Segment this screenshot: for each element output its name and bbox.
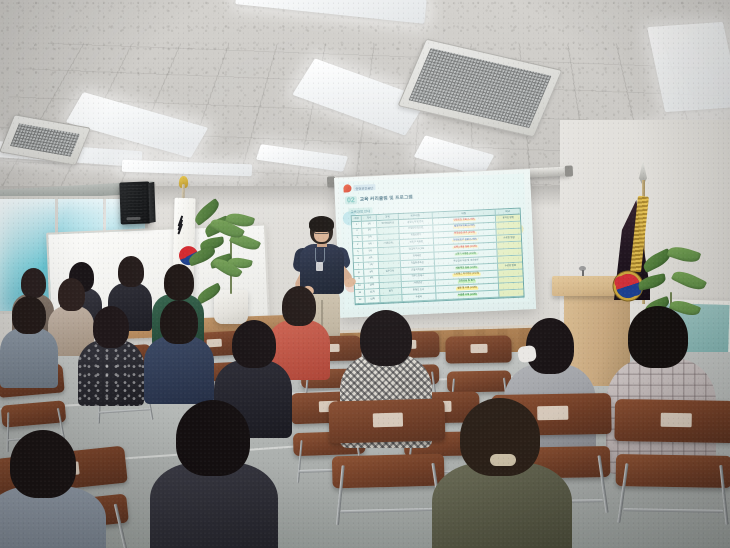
table-cell: 수료식 xyxy=(402,294,436,301)
presentation-slide: 안전보건공단 02 교육 커리큘럼 및 프로그램 교육과정 안내 구분차수과목세… xyxy=(339,173,530,309)
highlighted-text: 건강상담 및 평가 xyxy=(458,280,476,283)
highlighted-text: 수료증 수여 (1시간) xyxy=(457,294,478,297)
attendee-hair xyxy=(164,264,194,300)
table-cell: 9차 xyxy=(365,276,380,283)
table-cell: 7차 xyxy=(364,262,379,269)
slide-section-title: 교육 커리큘럼 및 프로그램 xyxy=(360,194,413,202)
highlighted-text: 안전보호구 실습 (1시간) xyxy=(452,239,477,243)
table-cell: 5차 xyxy=(363,248,378,255)
attendee-hair xyxy=(93,306,129,348)
table-cell xyxy=(379,261,401,268)
plant-leaf xyxy=(211,255,243,282)
highlighted-text: 안전보건 교육 (1시간) xyxy=(453,218,476,221)
table-cell xyxy=(497,228,521,235)
table-cell: 1차 xyxy=(362,221,377,228)
attendee-front-center xyxy=(150,400,278,548)
table-cell xyxy=(380,275,402,282)
table-cell: 평가 xyxy=(380,288,402,295)
table-cell xyxy=(498,256,522,263)
hair-clip xyxy=(490,454,516,466)
attendee-hair xyxy=(628,306,688,368)
table-cell: 수료증 발급 xyxy=(498,262,522,269)
slide-section-header: 02 교육 커리큘럼 및 프로그램 xyxy=(345,193,413,204)
speaker-brand-plate xyxy=(126,217,140,220)
chair-cross-rail xyxy=(623,508,724,513)
attendee-torso xyxy=(0,328,58,388)
table-cell xyxy=(380,282,402,289)
chair-seat xyxy=(1,400,66,427)
highlighted-text: 심폐소생술 실습 (2시간) xyxy=(453,245,478,249)
rail-end-cap xyxy=(565,165,573,176)
attendee-hair xyxy=(360,310,412,366)
chair-seat xyxy=(447,371,511,393)
table-cell xyxy=(499,276,523,283)
table-cell: 10차 xyxy=(365,283,380,290)
chair-cross-rail xyxy=(99,408,151,414)
chair-backrest xyxy=(614,399,730,443)
table-cell: 실무교육 xyxy=(379,268,401,275)
table-cell: 3차 xyxy=(363,235,378,242)
attendee-hair xyxy=(10,430,76,498)
presenter-hair xyxy=(309,216,334,232)
slide-logo-text: 안전보건공단 xyxy=(353,184,375,191)
attendee-front-left xyxy=(0,430,106,548)
attendee-navy-floral xyxy=(144,300,214,398)
highlighted-text: 스트레스 자가진단 (1시간) xyxy=(453,273,480,277)
chair-seat xyxy=(332,453,444,488)
table-cell: 이론교육 xyxy=(378,240,400,247)
folding-chair xyxy=(328,399,447,526)
table-cell: 6차 xyxy=(364,255,379,262)
table-cell xyxy=(499,269,523,276)
chair-backrest xyxy=(328,399,445,444)
projector-screen: 안전보건공단 02 교육 커리큘럼 및 프로그램 교육과정 안내 구분차수과목세… xyxy=(334,169,536,318)
logo-mark-icon xyxy=(343,184,351,192)
chair-seat xyxy=(616,454,730,488)
table-cell: 오리에테이션 xyxy=(377,220,399,227)
attendee-mid-left xyxy=(0,296,58,382)
chair-cross-rail xyxy=(341,508,438,514)
highlighted-text: 법정의무교육 (2시간) xyxy=(453,225,475,228)
table-cell: 온라인 병행 xyxy=(496,214,520,221)
slide-section-number: 02 xyxy=(345,196,357,205)
plant-leaf xyxy=(667,243,701,265)
table-cell: 11차 xyxy=(365,289,380,296)
attendee-hair xyxy=(160,300,198,344)
attendee-hair xyxy=(118,256,144,287)
slide-curriculum-table: 구분차수과목세부내용내용비고 11차오리에테이션과정소개 및 안내안전보건 교육… xyxy=(351,208,525,306)
table-cell: 2차 xyxy=(362,228,377,235)
attendee-hair xyxy=(21,268,46,298)
presenter-id-badge xyxy=(316,262,323,271)
attendee-hair xyxy=(232,320,276,368)
attendee-olive-vest-front xyxy=(432,398,572,548)
table-cell xyxy=(498,249,522,256)
seminar-room-photo: 안전보건공단 02 교육 커리큘럼 및 프로그램 교육과정 안내 구분차수과목세… xyxy=(0,0,730,548)
table-cell xyxy=(500,290,524,297)
table-cell xyxy=(378,234,400,241)
vent-grille xyxy=(10,123,80,157)
table-cell xyxy=(499,283,523,290)
table-cell xyxy=(378,247,400,254)
table-cell xyxy=(381,295,403,302)
chair-backrest xyxy=(445,335,511,363)
wall-mounted-pa-speaker xyxy=(119,181,150,224)
table-body: 11차오리에테이션과정소개 및 안내안전보건 교육 (1시간)온라인 병행22차… xyxy=(352,214,524,304)
attendee-torso xyxy=(78,340,144,406)
table-cell xyxy=(379,254,401,261)
plant-leaf xyxy=(671,267,707,294)
highlighted-text: 현장실습 위주 (2시간) xyxy=(453,232,476,235)
attendee-torso xyxy=(144,336,214,404)
highlighted-text: 예방체조 실습 (1시간) xyxy=(455,266,478,269)
table-cell xyxy=(498,242,522,249)
table-cell xyxy=(377,227,399,234)
plant-leaf xyxy=(209,215,245,242)
attendee-hair xyxy=(12,296,46,334)
plant-leaf xyxy=(637,273,667,291)
table-cell: 4차 xyxy=(363,241,378,248)
table-header-cell: 차수 xyxy=(362,215,377,220)
table-cell: 12차 xyxy=(366,296,381,303)
taeguk-red-lobe xyxy=(613,275,628,290)
attendee-floral-dark xyxy=(78,306,144,402)
folding-chair xyxy=(613,399,730,525)
highlighted-text: 소화기 사용법 (1시간) xyxy=(454,252,477,255)
highlighted-text: 설문 및 수료 (1시간) xyxy=(456,287,478,290)
table-cell: 수료증 발급 xyxy=(497,235,521,242)
slide-logo: 안전보건공단 xyxy=(343,183,375,192)
table-cell: 8차 xyxy=(364,269,379,276)
slide-subtitle: 교육과정 안내 xyxy=(348,207,372,214)
table-cell xyxy=(497,221,521,228)
attendee-hair xyxy=(176,400,250,476)
